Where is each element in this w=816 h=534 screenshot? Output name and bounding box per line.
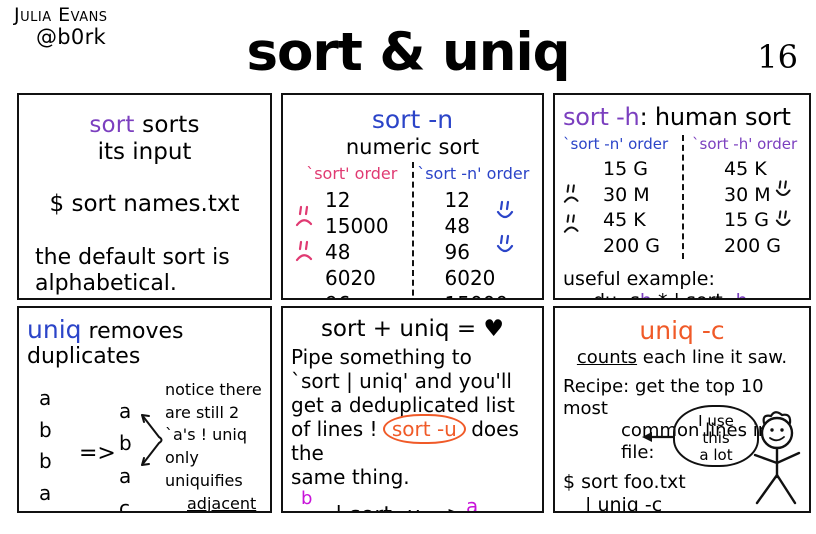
value-row: 48	[445, 213, 535, 239]
smiley-face-icon	[775, 209, 795, 235]
value-row: 15 G	[603, 157, 682, 183]
sort-n-columns: `sort' order 12 15000 48 6020 96	[291, 164, 534, 300]
bubble-line3: a lot	[675, 447, 757, 464]
sort-h-left-header: `sort -n' order	[563, 135, 682, 153]
value-row: 6020	[445, 265, 535, 291]
sort-intro-line1: sort sorts	[27, 112, 262, 138]
panel-sort-intro: sort sorts its input $ sort names.txt th…	[17, 93, 272, 300]
page-title: sort & uniq	[0, 22, 816, 83]
uniq-note: notice there are still 2 `a's ! uniq onl…	[165, 379, 262, 513]
panel-grid: sort sorts its input $ sort names.txt th…	[17, 93, 799, 521]
uniq-output-lines: a b a c	[119, 395, 132, 513]
uniq-c-sub-underlined: counts	[577, 347, 637, 368]
uniq-c-subheading: counts each line it saw.	[563, 347, 801, 368]
stick-figure-group: I use this a lot	[655, 401, 805, 509]
sort-h-right-header: `sort -h' order	[682, 135, 801, 153]
para-line5: same thing.	[291, 465, 534, 489]
cmd-part: * | sort -	[652, 290, 736, 300]
list-item: a	[119, 395, 132, 427]
sort-keyword: sort	[89, 112, 134, 138]
sort-h-left-column: `sort -n' order 15 G 30 M 45 K 200 G	[563, 135, 682, 260]
uniq-heading: uniq removes duplicates	[27, 315, 262, 369]
sort-h-keyword: sort -h	[563, 103, 640, 131]
sort-n-left-header: `sort' order	[291, 164, 413, 183]
uniq-diagram: a b b a c c => a b a c	[27, 369, 262, 513]
sort-n-subheading: numeric sort	[291, 135, 534, 159]
panel-sort-uniq: sort + uniq = ♥ Pipe something to `sort …	[281, 306, 544, 513]
value-row: 48	[325, 239, 413, 265]
list-item: a	[466, 493, 479, 513]
value-row: 15000	[445, 291, 535, 300]
page-number: 16	[757, 38, 798, 76]
sort-intro-line2: its input	[27, 139, 262, 165]
stick-figure-icon	[749, 407, 805, 507]
uniq-note-line2: are still 2	[165, 402, 262, 425]
sort-intro-command: $ sort names.txt	[27, 191, 262, 217]
para-line4-pre: of lines !	[291, 417, 384, 441]
uniq-note-line3: `a's ! uniq	[165, 424, 262, 447]
list-item: b	[119, 427, 132, 459]
list-item: c	[119, 492, 132, 513]
bubble-line1: I use	[675, 413, 757, 430]
value-row: 200 G	[724, 234, 801, 260]
sort-u-callout: sort -u	[384, 417, 465, 441]
value-row: 96	[325, 291, 413, 300]
sort-h-right-column: `sort -h' order 45 K 30 M 15 G 200 G	[682, 135, 801, 260]
sort-n-right-column: `sort -n' order 12 48 96 6020 15000	[413, 164, 535, 300]
value-row: 12	[445, 187, 535, 213]
left-arrow-icon	[641, 429, 675, 445]
sort-h-heading: sort -h: human sort	[563, 103, 801, 131]
sort-n-heading: sort -n	[291, 105, 534, 134]
example-command: | sort -u =>	[335, 503, 465, 513]
sad-face-icon	[563, 213, 583, 239]
cmd-h-flag: h	[736, 290, 748, 300]
value-row: 30 M	[603, 183, 682, 209]
sort-uniq-paragraph: Pipe something to `sort | uniq' and you'…	[291, 345, 534, 489]
list-item: c	[39, 509, 52, 513]
uniq-note-line4: only uniquifies	[165, 447, 262, 492]
list-item: b	[301, 489, 312, 509]
sort-intro-note-line2: alphabetical.	[35, 271, 262, 297]
list-item: a	[39, 383, 52, 415]
column-divider	[412, 162, 414, 300]
smiley-face-icon	[775, 179, 795, 205]
value-row: 45 K	[603, 208, 682, 234]
list-item: b	[39, 446, 52, 478]
uniq-keyword: uniq	[27, 315, 82, 344]
value-row: 96	[445, 239, 535, 265]
panel-sort-h: sort -h: human sort `sort -n' order 15 G…	[553, 93, 811, 300]
value-row: 12	[325, 187, 413, 213]
sad-face-icon	[295, 240, 317, 267]
sort-h-columns: `sort -n' order 15 G 30 M 45 K 200 G	[563, 135, 801, 260]
smiley-face-icon	[496, 234, 518, 261]
example-output-lines: a b	[466, 493, 479, 513]
speech-bubble: I use this a lot	[673, 405, 759, 467]
sort-n-right-header: `sort -n' order	[413, 164, 535, 183]
value-row: 6020	[325, 265, 413, 291]
uniq-note-line1: notice there	[165, 379, 262, 402]
zine-page: Julia Evans @b0rk sort & uniq 16 sort so…	[0, 0, 816, 534]
example-input-lines: b a b a	[301, 489, 312, 513]
value-row: 15000	[325, 213, 413, 239]
sort-h-example-label: useful example:	[563, 268, 801, 291]
column-divider	[682, 135, 684, 259]
panel-sort-n: sort -n numeric sort `sort' order 12 150…	[281, 93, 544, 300]
sort-h-heading-rest: : human sort	[640, 103, 791, 131]
uniq-arrow: =>	[79, 441, 116, 466]
uniq-input-lines: a b b a c c	[39, 383, 52, 513]
list-item: a	[39, 478, 52, 510]
sad-face-icon	[295, 205, 317, 232]
list-item: a	[119, 460, 132, 492]
list-item: a	[301, 509, 312, 513]
sort-h-example: useful example: du -sh * | sort -h	[563, 268, 801, 300]
sort-n-left-column: `sort' order 12 15000 48 6020 96	[291, 164, 413, 300]
value-row: 200 G	[603, 234, 682, 260]
sort-uniq-example: b a b a | sort -u => ▲ or sort | uniq a …	[291, 491, 534, 513]
cmd-h-flag: h	[640, 290, 652, 300]
bubble-line2: this	[675, 430, 757, 447]
sort-intro-line1-rest: sorts	[135, 112, 200, 138]
panel-uniq: uniq removes duplicates a b b a c c => a…	[17, 306, 272, 513]
uniq-c-heading: uniq -c	[563, 316, 801, 345]
para-line2: `sort | uniq' and you'll	[291, 369, 534, 393]
para-line4: of lines ! sort -u does the	[291, 417, 534, 465]
cmd-part: du -s	[593, 290, 640, 300]
uniq-note-line5: adjacent	[187, 494, 256, 513]
sort-intro-note: the default sort is alphabetical.	[27, 245, 262, 297]
uniq-c-sub-rest: each line it saw.	[637, 347, 787, 368]
sad-face-icon	[563, 183, 583, 209]
sort-uniq-heading: sort + uniq = ♥	[291, 316, 534, 342]
sort-h-example-command: du -sh * | sort -h	[563, 290, 801, 300]
sort-intro-note-line1: the default sort is	[35, 245, 262, 271]
smiley-face-icon	[496, 200, 518, 227]
list-item: b	[39, 415, 52, 447]
para-line1: Pipe something to	[291, 345, 534, 369]
panel-uniq-c: uniq -c counts each line it saw. Recipe:…	[553, 306, 811, 513]
